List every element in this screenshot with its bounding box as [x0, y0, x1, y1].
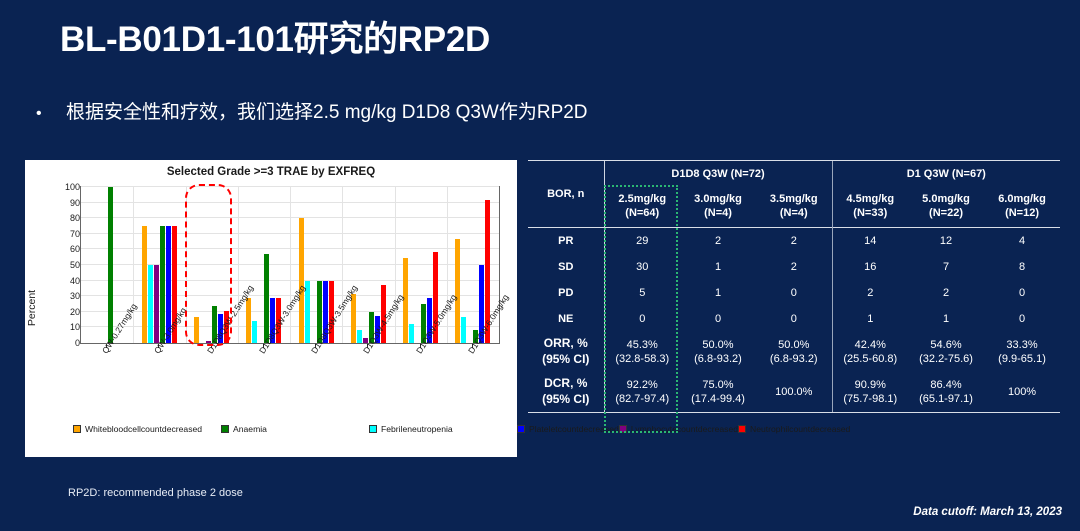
table-cell-ci: (65.1-97.1) [908, 392, 984, 406]
page-title: BL-B01D1-101研究的RP2D [60, 11, 490, 62]
table-dose-header: 3.0mg/kg(N=4) [680, 187, 756, 228]
chart-y-tick-label: 50 [54, 261, 80, 270]
table-cell-ci: (32.8-58.3) [605, 352, 681, 366]
footnote: RP2D: recommended phase 2 dose [68, 487, 243, 499]
table-dose-value: 5.0mg/kg [908, 193, 984, 207]
chart-title: Selected Grade >=3 TRAE by EXFREQ [25, 166, 517, 178]
table-cell-percent: 54.6% [908, 338, 984, 352]
table-cell: 75.0%(17.4-99.4) [680, 372, 756, 413]
table-dose-header: 4.5mg/kg(N=33) [832, 187, 908, 228]
chart-bar [142, 226, 147, 343]
chart-legend-item: Anaemia [221, 423, 369, 435]
table-cell-percent: 92.2% [605, 378, 681, 392]
table-cell-ci: (25.5-60.8) [833, 352, 909, 366]
chart-bar [409, 324, 414, 344]
table-cell-ci: (9.9-65.1) [984, 352, 1060, 366]
table-row: ORR, %(95% CI)45.3%(32.8-58.3)50.0%(6.8-… [528, 332, 1060, 372]
chart-y-tick-label: 30 [54, 292, 80, 301]
data-cutoff-note: Data cutoff: March 13, 2023 [913, 506, 1062, 518]
table-cell: 1 [680, 254, 756, 280]
table-dose-value: 6.0mg/kg [984, 193, 1060, 207]
table-row-label-line1: DCR, % [528, 376, 604, 392]
chart-y-tick-label: 100 [54, 183, 80, 192]
chart-bar [148, 265, 153, 343]
table-cell-percent: 50.0% [756, 338, 832, 352]
table-cell-percent: 100% [984, 385, 1060, 399]
table-cell-percent: 75.0% [680, 378, 756, 392]
table-dose-n: (N=4) [680, 207, 756, 221]
chart-bar [351, 294, 356, 343]
table-cell-percent: 86.4% [908, 378, 984, 392]
table-cell: 90.9%(75.7-98.1) [832, 372, 908, 413]
chart-legend-item: Whitebloodcellcountdecreased [73, 423, 221, 435]
bullet-marker-icon: • [36, 106, 66, 122]
table-row-label-line2: (95% CI) [528, 352, 604, 368]
table-dose-header-row: 2.5mg/kg(N=64)3.0mg/kg(N=4)3.5mg/kg(N=4)… [528, 187, 1060, 228]
table-cell: 7 [908, 254, 984, 280]
chart-y-tick-label: 10 [54, 323, 80, 332]
table-cell: 0 [756, 280, 832, 306]
table-dose-header: 3.5mg/kg(N=4) [756, 187, 832, 228]
table-cell: 16 [832, 254, 908, 280]
table-cell: 2 [756, 228, 832, 255]
table-cell: 2 [908, 280, 984, 306]
table-group-header: D1 Q3W (N=67) [832, 161, 1060, 188]
table-cell-percent: 45.3% [605, 338, 681, 352]
chart-bar [299, 218, 304, 343]
table-cell: 5 [604, 280, 680, 306]
table-cell: 0 [756, 306, 832, 332]
table-dose-value: 4.5mg/kg [833, 193, 909, 207]
table-row-label: SD [528, 254, 604, 280]
chart-y-tick-label: 90 [54, 199, 80, 208]
table-cell: 42.4%(25.5-60.8) [832, 332, 908, 372]
table-cell-percent: 100.0% [756, 385, 832, 399]
chart-y-tick-label: 60 [54, 245, 80, 254]
table-dose-header: 5.0mg/kg(N=22) [908, 187, 984, 228]
table-dose-value: 3.5mg/kg [756, 193, 832, 207]
chart-y-tick-label: 70 [54, 230, 80, 239]
chart-bar [160, 226, 165, 343]
bor-table-panel: BOR, nD1D8 Q3W (N=72)D1 Q3W (N=67)2.5mg/… [528, 160, 1060, 457]
table-cell: 2 [832, 280, 908, 306]
table-cell: 1 [680, 280, 756, 306]
table-row-label: ORR, %(95% CI) [528, 332, 604, 372]
chart-legend-swatch [221, 425, 229, 433]
table-cell: 86.4%(65.1-97.1) [908, 372, 984, 413]
chart-bar [461, 317, 466, 343]
table-cell: 0 [604, 306, 680, 332]
table-cell-ci: (32.2-75.6) [908, 352, 984, 366]
table-cell: 8 [984, 254, 1060, 280]
chart-x-axis-labels: QW-0.27mg/kgQW-3.0mg/kgD1D8Q3W-2.5mg/kgD… [80, 350, 500, 420]
table-cell: 0 [984, 280, 1060, 306]
table-row-label-line1: ORR, % [528, 336, 604, 352]
table-row-label: PR [528, 228, 604, 255]
table-cell-percent: 42.4% [833, 338, 909, 352]
table-row: PR292214124 [528, 228, 1060, 255]
table-cell: 33.3%(9.9-65.1) [984, 332, 1060, 372]
table-cell: 4 [984, 228, 1060, 255]
table-cell: 2 [756, 254, 832, 280]
table-cell-ci: (17.4-99.4) [680, 392, 756, 406]
chart-bar [154, 265, 159, 343]
chart-y-axis-label: Percent [26, 290, 38, 326]
table-corner-label: BOR, n [528, 161, 604, 228]
table-row-label: DCR, %(95% CI) [528, 372, 604, 413]
table-group-header-row: BOR, nD1D8 Q3W (N=72)D1 Q3W (N=67) [528, 161, 1060, 188]
chart-bar [246, 298, 251, 343]
chart-bar [357, 330, 362, 343]
table-cell: 100% [984, 372, 1060, 413]
table-cell: 30 [604, 254, 680, 280]
chart-legend-swatch [517, 425, 525, 433]
table-cell-percent: 90.9% [833, 378, 909, 392]
table-cell-percent: 50.0% [680, 338, 756, 352]
table-cell: 2 [680, 228, 756, 255]
table-cell: 0 [680, 306, 756, 332]
table-row: PD510220 [528, 280, 1060, 306]
chart-bar [252, 321, 257, 343]
table-dose-value: 3.0mg/kg [680, 193, 756, 207]
chart-y-tick-label: 20 [54, 308, 80, 317]
bullet-row: • 根据安全性和疗效，我们选择2.5 mg/kg D1D8 Q3W作为RP2D [36, 97, 588, 124]
table-cell: 0 [984, 306, 1060, 332]
table-dose-n: (N=64) [605, 207, 681, 221]
chart-legend-swatch [369, 425, 377, 433]
table-cell-ci: (6.8-93.2) [756, 352, 832, 366]
table-cell: 29 [604, 228, 680, 255]
chart-legend-label: Febrileneutropenia [381, 425, 453, 434]
chart-y-tick-label: 80 [54, 214, 80, 223]
table-group-header: D1D8 Q3W (N=72) [604, 161, 832, 188]
chart-bar [403, 258, 408, 343]
table-cell-percent: 33.3% [984, 338, 1060, 352]
table-dose-n: (N=4) [756, 207, 832, 221]
chart-legend: WhitebloodcellcountdecreasedAnaemiaFebri… [73, 423, 513, 435]
table-cell: 92.2%(82.7-97.4) [604, 372, 680, 413]
bullet-text: 根据安全性和疗效，我们选择2.5 mg/kg D1D8 Q3W作为RP2D [66, 97, 588, 124]
chart-y-tick-label: 40 [54, 277, 80, 286]
table-cell: 14 [832, 228, 908, 255]
chart-bar [108, 187, 113, 343]
table-row: SD30121678 [528, 254, 1060, 280]
table-cell-ci: (75.7-98.1) [833, 392, 909, 406]
chart-y-tick-label: 0 [54, 339, 80, 348]
chart-bar [455, 239, 460, 343]
table-dose-header: 6.0mg/kg(N=12) [984, 187, 1060, 228]
chart-bar [194, 317, 199, 343]
bor-table: BOR, nD1D8 Q3W (N=72)D1 Q3W (N=67)2.5mg/… [528, 160, 1060, 413]
table-row: DCR, %(95% CI)92.2%(82.7-97.4)75.0%(17.4… [528, 372, 1060, 413]
table-cell: 50.0%(6.8-93.2) [756, 332, 832, 372]
table-cell: 50.0%(6.8-93.2) [680, 332, 756, 372]
table-dose-n: (N=33) [833, 207, 909, 221]
table-cell: 12 [908, 228, 984, 255]
chart-legend-swatch [73, 425, 81, 433]
chart-x-axis-ticks [80, 344, 500, 349]
chart-y-axis-ticks: 0102030405060708090100 [46, 186, 80, 344]
table-dose-header: 2.5mg/kg(N=64) [604, 187, 680, 228]
table-dose-n: (N=12) [984, 207, 1060, 221]
chart-legend-item: Febrileneutropenia [369, 423, 517, 435]
table-row-label: NE [528, 306, 604, 332]
chart-legend-label: Anaemia [233, 425, 267, 434]
table-cell: 54.6%(32.2-75.6) [908, 332, 984, 372]
table-row-label: PD [528, 280, 604, 306]
table-cell: 1 [832, 306, 908, 332]
table-cell-ci: (82.7-97.4) [605, 392, 681, 406]
table-row: NE000110 [528, 306, 1060, 332]
table-dose-value: 2.5mg/kg [605, 193, 681, 207]
trae-bar-chart: Selected Grade >=3 TRAE by EXFREQ Percen… [25, 160, 517, 457]
table-cell: 45.3%(32.8-58.3) [604, 332, 680, 372]
table-cell: 1 [908, 306, 984, 332]
table-dose-n: (N=22) [908, 207, 984, 221]
table-cell-ci: (6.8-93.2) [680, 352, 756, 366]
table-row-label-line2: (95% CI) [528, 392, 604, 408]
chart-legend-label: Whitebloodcellcountdecreased [85, 425, 202, 434]
table-cell: 100.0% [756, 372, 832, 413]
